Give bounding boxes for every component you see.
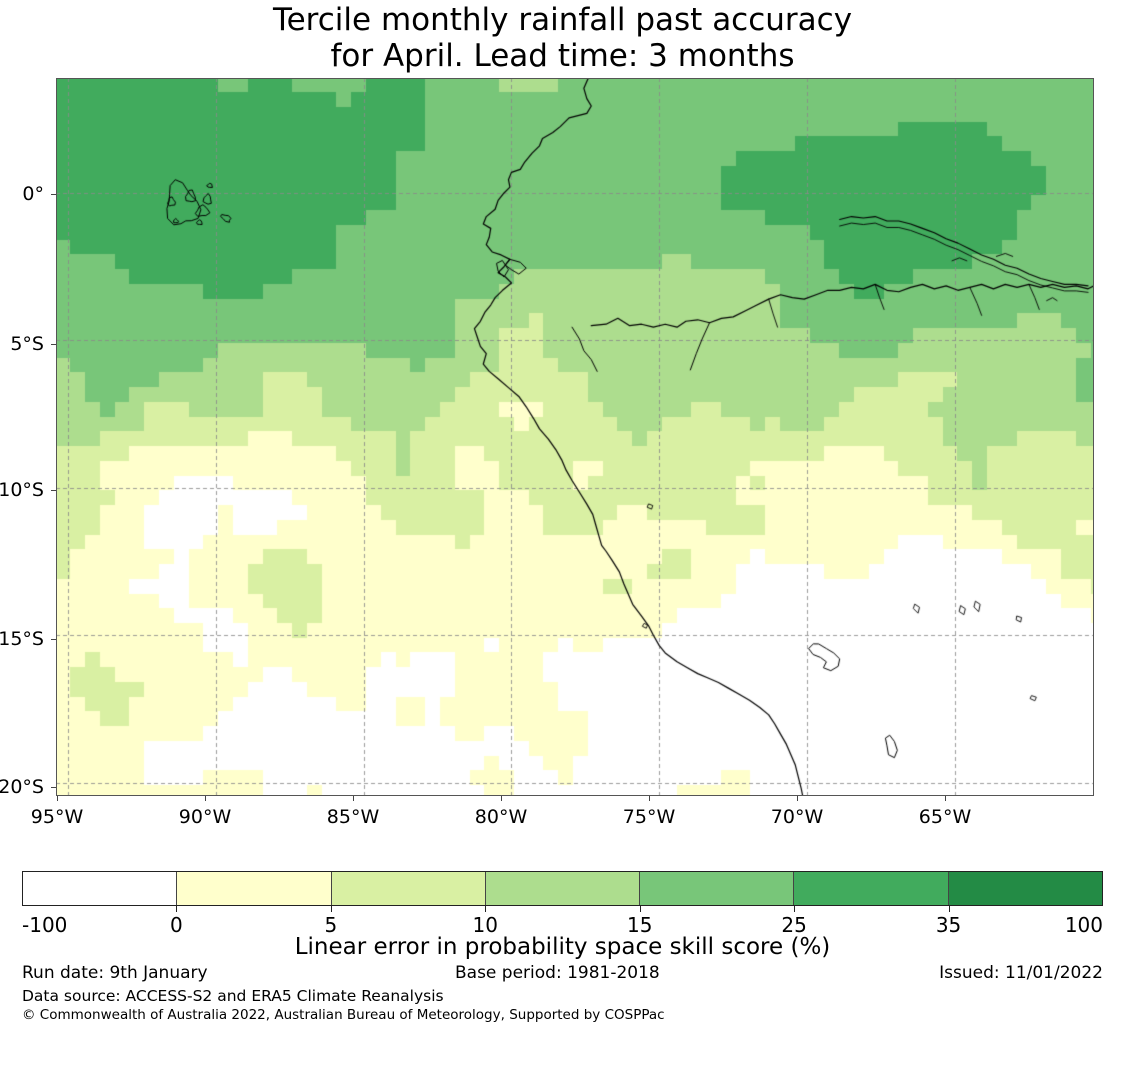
footer-base-period: Base period: 1981-2018 [455,963,660,983]
colorbar-segment [332,872,486,905]
colorbar-tick-mark [794,906,795,912]
y-axis-tick-mark [51,490,56,491]
colorbar-tick-label: 5 [324,913,337,937]
footer-run-date: Run date: 9th January [22,963,208,983]
colorbar-gradient [22,871,1103,906]
colorbar-segment [23,872,177,905]
colorbar-segment [177,872,331,905]
x-axis-tick-label: 75°W [623,806,675,828]
x-axis-tick-label: 65°W [919,806,971,828]
footer-copyright: © Commonwealth of Australia 2022, Austra… [22,1007,665,1023]
y-axis-tick-label: 10°S [0,479,44,501]
colorbar-segment [486,872,640,905]
y-axis-tick-mark [51,344,56,345]
x-axis-tick-mark [501,796,502,801]
colorbar-title: Linear error in probability space skill … [0,934,1125,960]
colorbar-tick-label: 35 [936,913,961,937]
y-axis-tick-label: 20°S [0,776,44,798]
chart-title: Tercile monthly rainfall past accuracy f… [0,0,1125,74]
colorbar-tick-mark [485,906,486,912]
x-axis-tick-label: 80°W [475,806,527,828]
colorbar-tick-label: 25 [781,913,806,937]
footer-data-source: Data source: ACCESS-S2 and ERA5 Climate … [22,987,444,1005]
x-axis-tick-label: 70°W [771,806,823,828]
colorbar-tick-mark [331,906,332,912]
x-axis-tick-mark [797,796,798,801]
x-axis-tick-mark [205,796,206,801]
colorbar-tick-label: 15 [627,913,652,937]
colorbar-tick-label: 10 [473,913,498,937]
footer-issued-date: Issued: 11/01/2022 [939,963,1103,983]
x-axis-tick-label: 95°W [31,806,83,828]
colorbar-segment [949,872,1102,905]
y-axis-tick-label: 0° [22,183,44,205]
colorbar-segment [640,872,794,905]
colorbar-tick-label: -100 [22,913,67,937]
map-plot-area[interactable] [56,78,1094,796]
colorbar-tick-mark [176,906,177,912]
colorbar-tick-label: 100 [1065,913,1103,937]
x-axis-tick-mark [57,796,58,801]
y-axis-tick-label: 5°S [10,333,44,355]
skill-score-heatmap [56,78,1094,796]
colorbar-tick-mark [949,906,950,912]
x-axis-tick-label: 90°W [179,806,231,828]
y-axis-tick-mark [51,194,56,195]
y-axis-tick-label: 15°S [0,628,44,650]
colorbar-tick-label: 0 [170,913,183,937]
x-axis-tick-mark [945,796,946,801]
x-axis-tick-label: 85°W [327,806,379,828]
colorbar-segment [794,872,948,905]
colorbar-tick-mark [640,906,641,912]
colorbar[interactable] [22,871,1103,906]
x-axis-tick-mark [649,796,650,801]
y-axis-tick-mark [51,639,56,640]
x-axis-tick-mark [353,796,354,801]
y-axis-tick-mark [51,787,56,788]
